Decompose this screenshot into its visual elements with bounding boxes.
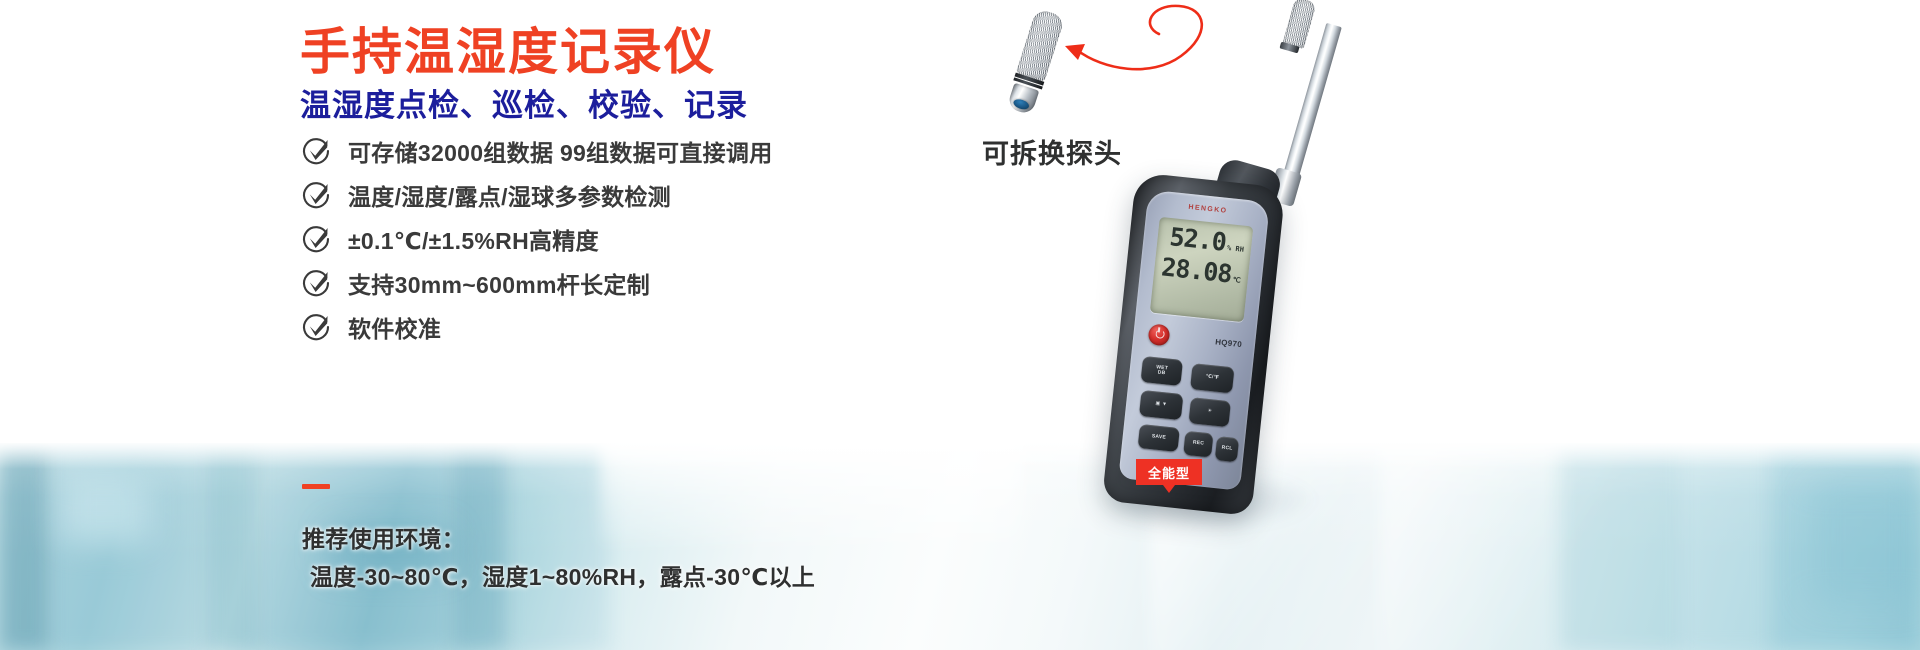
- list-item: 可存储32000组数据 99组数据可直接调用: [302, 129, 773, 173]
- check-circle-icon: [302, 268, 332, 298]
- background-photo: [0, 443, 1920, 650]
- page-title: 手持温湿度记录仪: [300, 12, 716, 84]
- save-key[interactable]: SAVE: [1138, 424, 1180, 452]
- lcd-temperature-value: 28.08: [1160, 254, 1232, 286]
- environment-detail: 温度-30~80℃，湿度1~80%RH，露点-30℃以上: [310, 558, 815, 592]
- lcd-temperature-unit: ℃: [1232, 276, 1241, 285]
- lcd-display: 52.0 % RH 28.08 ℃: [1150, 217, 1254, 322]
- accent-dash: [302, 484, 330, 489]
- model-label: HQ970: [1133, 329, 1255, 351]
- menu-key[interactable]: ▣ ▼: [1139, 390, 1183, 420]
- handheld-thermo-hygrometer: HENGKO 52.0 % RH 28.08 ℃ HQ970 WETDB ℃/℉: [1100, 0, 1400, 514]
- product-banner: 手持温湿度记录仪 温湿度点检、巡检、校验、记录 可存储32000组数据 99组数…: [0, 0, 1920, 650]
- list-item: 温度/湿度/露点/湿球多参数检测: [302, 173, 773, 217]
- environment-heading: 推荐使用环境：: [302, 520, 465, 554]
- brand-label: HENGKO: [1147, 199, 1269, 219]
- lcd-humidity-value: 52.0: [1168, 224, 1227, 255]
- check-circle-icon: [302, 312, 332, 342]
- probe-sensor-tip: [1282, 0, 1316, 49]
- hold-key[interactable]: ℃/℉: [1190, 363, 1234, 393]
- background-seam: [0, 443, 1920, 469]
- list-item-label: 可存储32000组数据 99组数据可直接调用: [348, 134, 773, 168]
- list-item-label: ±0.1℃/±1.5%RH高精度: [348, 222, 599, 256]
- list-item: ±0.1℃/±1.5%RH高精度: [302, 217, 773, 261]
- list-item-label: 温度/湿度/露点/湿球多参数检测: [348, 178, 671, 212]
- status-badge: 全能型: [1136, 459, 1202, 485]
- lcd-humidity-row: 52.0 % RH: [1164, 224, 1246, 257]
- list-item: 支持30mm~600mm杆长定制: [302, 261, 773, 305]
- read-key[interactable]: RCL: [1215, 436, 1239, 462]
- check-circle-icon: [302, 224, 332, 254]
- list-item-label: 支持30mm~600mm杆长定制: [348, 266, 650, 300]
- lcd-temperature-row: 28.08 ℃: [1160, 254, 1242, 287]
- list-item-label: 软件校准: [348, 310, 441, 344]
- lcd-humidity-unit: % RH: [1227, 244, 1245, 254]
- feature-list: 可存储32000组数据 99组数据可直接调用 温度/湿度/露点/湿球多参数检测 …: [302, 129, 773, 349]
- check-circle-icon: [302, 180, 332, 210]
- list-item: 软件校准: [302, 305, 773, 349]
- rec-key[interactable]: REC: [1183, 431, 1213, 458]
- backlight-key[interactable]: ☀: [1188, 397, 1230, 427]
- page-subtitle: 温湿度点检、巡检、校验、记录: [300, 80, 748, 125]
- wet-db-key[interactable]: WETDB: [1141, 356, 1183, 386]
- device-faceplate: HENGKO 52.0 % RH 28.08 ℃ HQ970 WETDB ℃/℉: [1118, 190, 1270, 491]
- check-circle-icon: [302, 136, 332, 166]
